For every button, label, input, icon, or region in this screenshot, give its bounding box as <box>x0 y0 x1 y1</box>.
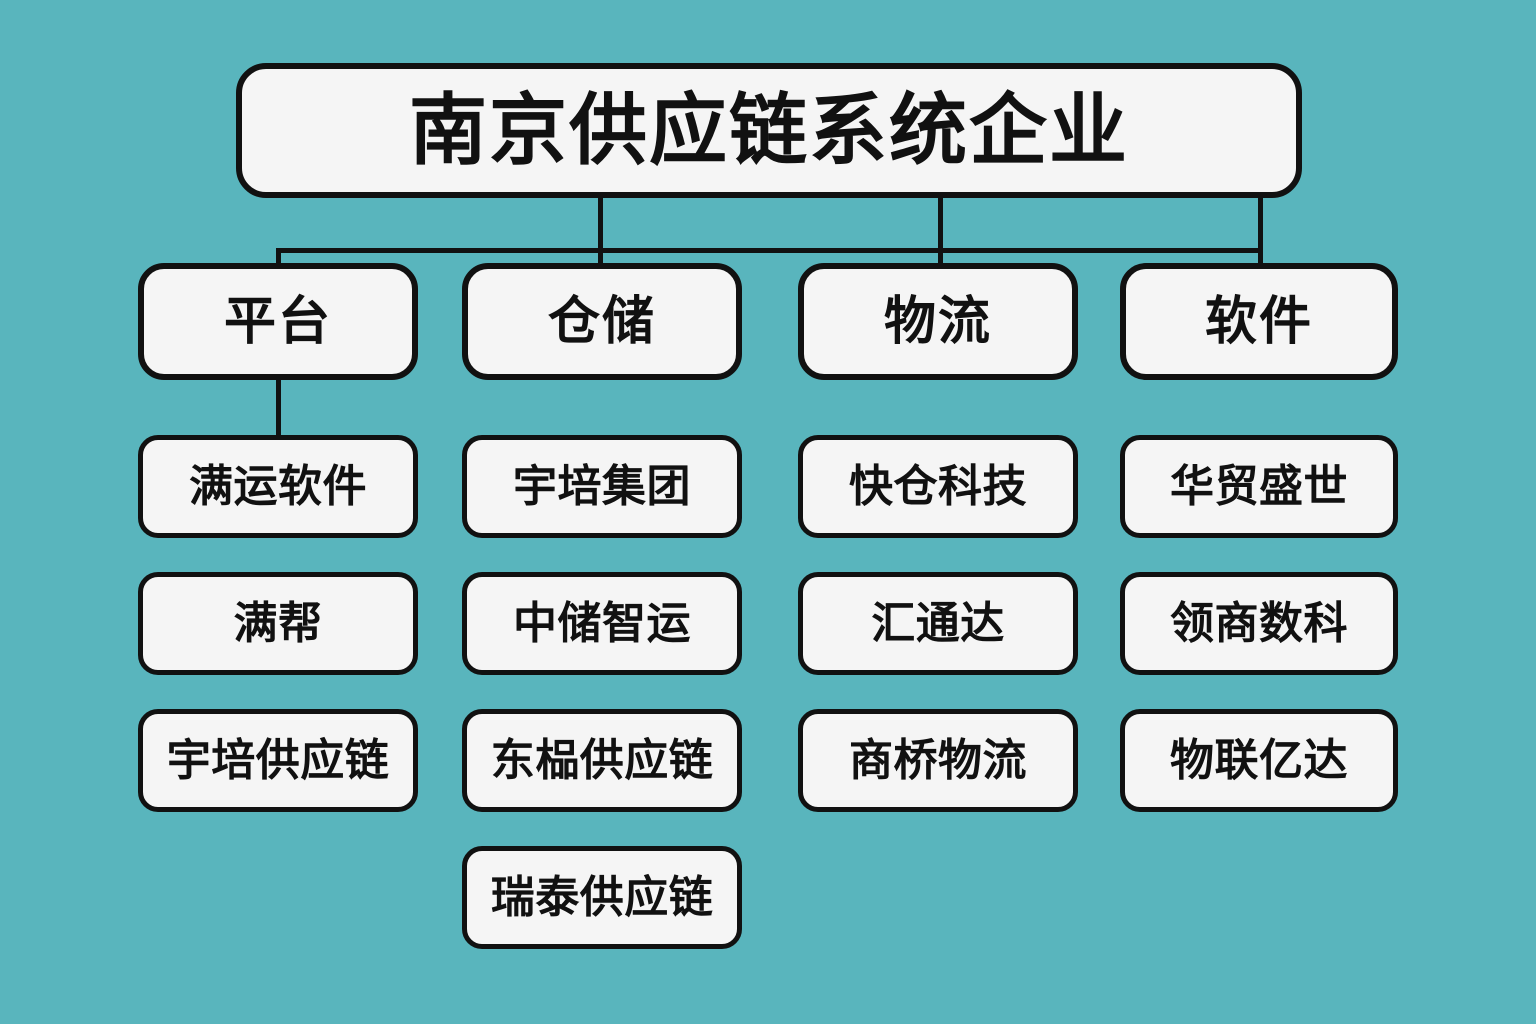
category-label-software: 软件 <box>1205 296 1313 348</box>
category-label-platform: 平台 <box>224 296 332 348</box>
root-node-title: 南京供应链系统企业 <box>236 63 1302 198</box>
category-node-logistics[interactable]: 物流 <box>798 263 1078 380</box>
connector-root-drop-center <box>598 198 603 253</box>
category-label-logistics: 物流 <box>884 296 992 348</box>
company-label: 瑞泰供应链 <box>491 876 714 920</box>
company-node[interactable]: 物联亿达 <box>1120 709 1398 812</box>
category-node-software[interactable]: 软件 <box>1120 263 1398 380</box>
company-label: 领商数科 <box>1170 602 1348 646</box>
company-node[interactable]: 满帮 <box>138 572 418 675</box>
company-node[interactable]: 满运软件 <box>138 435 418 538</box>
company-node[interactable]: 领商数科 <box>1120 572 1398 675</box>
company-node[interactable]: 中储智运 <box>462 572 742 675</box>
company-label: 宇培供应链 <box>167 739 390 783</box>
connector-horizontal-bus <box>276 248 1263 253</box>
company-label: 汇通达 <box>871 602 1005 646</box>
root-node-label: 南京供应链系统企业 <box>409 92 1129 170</box>
company-node[interactable]: 华贸盛世 <box>1120 435 1398 538</box>
company-node[interactable]: 快仓科技 <box>798 435 1078 538</box>
org-chart-canvas: 南京供应链系统企业 平台 仓储 物流 软件 满运软件 满帮 宇培供应链 宇培集团… <box>0 0 1536 1024</box>
company-label: 商桥物流 <box>849 739 1027 783</box>
company-node[interactable]: 瑞泰供应链 <box>462 846 742 949</box>
connector-category-0-to-leaf <box>276 375 281 437</box>
connector-root-drop-right <box>1258 198 1263 253</box>
category-node-warehousing[interactable]: 仓储 <box>462 263 742 380</box>
company-node[interactable]: 汇通达 <box>798 572 1078 675</box>
company-node[interactable]: 商桥物流 <box>798 709 1078 812</box>
company-node[interactable]: 宇培供应链 <box>138 709 418 812</box>
company-label: 满帮 <box>234 602 323 646</box>
connector-root-drop-right-mid <box>938 198 943 253</box>
company-label: 物联亿达 <box>1170 739 1348 783</box>
company-label: 宇培集团 <box>513 465 691 509</box>
company-node[interactable]: 东榀供应链 <box>462 709 742 812</box>
company-label: 华贸盛世 <box>1170 465 1348 509</box>
company-label: 满运软件 <box>189 465 367 509</box>
category-node-platform[interactable]: 平台 <box>138 263 418 380</box>
company-label: 东榀供应链 <box>491 739 714 783</box>
company-node[interactable]: 宇培集团 <box>462 435 742 538</box>
company-label: 快仓科技 <box>849 465 1027 509</box>
company-label: 中储智运 <box>513 602 691 646</box>
category-label-warehousing: 仓储 <box>548 296 656 348</box>
